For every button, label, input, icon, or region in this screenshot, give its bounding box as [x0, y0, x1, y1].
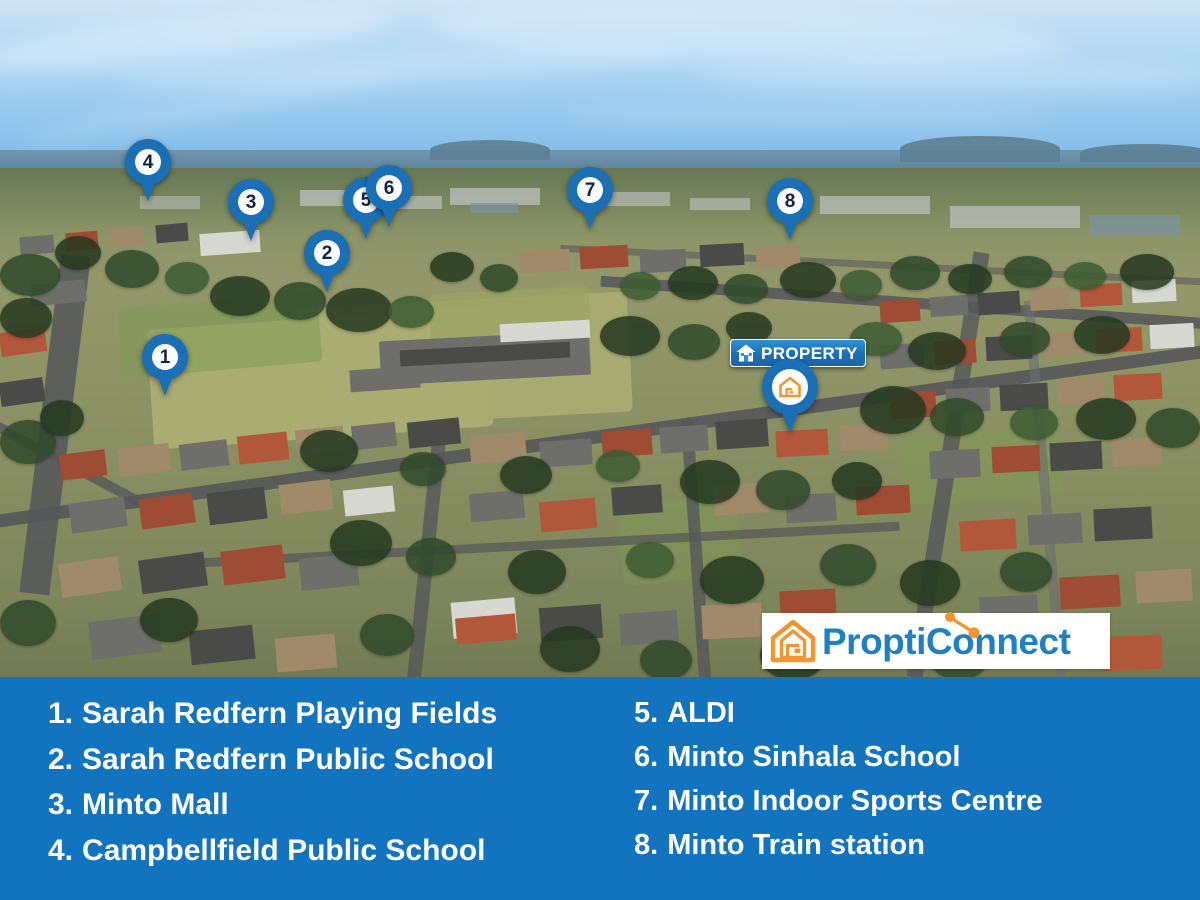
house-roof: [109, 227, 144, 248]
legend-number: 6.: [634, 735, 658, 779]
tree: [400, 452, 446, 486]
tree: [620, 272, 660, 300]
legend-number: 5.: [634, 691, 658, 735]
map-pin-6[interactable]: 6: [366, 165, 412, 227]
pin-number: 1: [160, 348, 171, 367]
house-roof: [469, 490, 525, 523]
legend-label: Sarah Redfern Public School: [82, 737, 494, 783]
tree: [105, 250, 159, 288]
pin-disc: 6: [376, 175, 402, 201]
legend-label: Campbellfield Public School: [82, 828, 485, 874]
pin-disc: 1: [152, 344, 178, 370]
tree: [0, 254, 60, 296]
tree: [900, 560, 960, 606]
house-icon: [735, 343, 757, 363]
tree: [165, 262, 209, 294]
house-roof: [343, 485, 395, 516]
tree: [360, 614, 414, 656]
legend-column-right: 5. ALDI 6. Minto Sinhala School 7. Minto…: [634, 691, 1194, 867]
tree: [596, 450, 640, 482]
pin-disc: 8: [777, 188, 803, 214]
house-roof: [991, 445, 1040, 473]
terrain-detail: [820, 196, 930, 214]
tree: [0, 298, 52, 338]
terrain-detail: [690, 198, 750, 210]
house-roof: [1049, 441, 1102, 472]
tree: [330, 520, 392, 566]
house-roof: [977, 291, 1020, 316]
legend-item-6: 6. Minto Sinhala School: [634, 735, 1194, 779]
tree: [500, 456, 552, 494]
legend-label: Minto Sinhala School: [667, 735, 960, 779]
house-roof: [278, 479, 333, 515]
tree: [820, 544, 876, 586]
map-pin-3[interactable]: 3: [228, 179, 274, 241]
tree: [508, 550, 566, 594]
tree: [388, 296, 434, 328]
house-roof: [929, 295, 968, 318]
legend-item-8: 8. Minto Train station: [634, 823, 1194, 867]
house-roof: [155, 223, 188, 244]
house-roof: [1059, 574, 1121, 609]
tree: [724, 274, 768, 304]
pin-disc: 3: [238, 189, 264, 215]
legend-item-2: 2. Sarah Redfern Public School: [48, 737, 628, 783]
pin-number: 8: [785, 192, 796, 211]
legend-number: 3.: [48, 782, 73, 828]
legend-number: 2.: [48, 737, 73, 783]
pin-number: 6: [384, 179, 395, 198]
tree: [780, 262, 836, 298]
map-pin-4[interactable]: 4: [125, 139, 171, 201]
legend-label: ALDI: [667, 691, 735, 735]
house-roof: [929, 449, 980, 480]
legend-number: 1.: [48, 691, 73, 737]
legend-label: Minto Mall: [82, 782, 229, 828]
house-roof: [407, 417, 461, 448]
house-roof: [611, 484, 663, 515]
house-roof: [519, 249, 570, 274]
brand-logo[interactable]: ProptiConnect: [762, 613, 1110, 669]
legend-label: Sarah Redfern Playing Fields: [82, 691, 497, 737]
tree: [930, 398, 984, 436]
tree: [1076, 398, 1136, 440]
tree: [840, 270, 882, 300]
tree: [908, 332, 966, 370]
map-pin-7[interactable]: 7: [567, 167, 613, 229]
legend-number: 7.: [634, 779, 658, 823]
pin-number: 4: [143, 153, 154, 172]
tree: [756, 470, 810, 510]
tree: [480, 264, 518, 292]
tree: [640, 640, 692, 680]
house-roof: [879, 299, 920, 324]
tree: [1064, 262, 1106, 290]
brand-logo-text: ProptiConnect: [822, 623, 1070, 660]
tree: [55, 236, 101, 270]
house-roof: [1135, 569, 1193, 604]
legend-label: Minto Train station: [667, 823, 925, 867]
house-roof: [1113, 373, 1162, 401]
house-roof: [1149, 323, 1194, 349]
house-roof: [579, 245, 628, 269]
legend-item-4: 4. Campbellfield Public School: [48, 828, 628, 874]
house-roof: [1027, 513, 1082, 546]
tree: [626, 542, 674, 578]
legend-column-left: 1. Sarah Redfern Playing Fields 2. Sarah…: [48, 691, 628, 873]
tree: [210, 276, 270, 316]
legend-label: Minto Indoor Sports Centre: [667, 779, 1042, 823]
tree: [1004, 256, 1052, 288]
cloud-wisp: [560, 104, 1060, 128]
house-pin-icon: [778, 376, 802, 398]
legend-bar: 1. Sarah Redfern Playing Fields 2. Sarah…: [0, 677, 1200, 900]
map-pin-1[interactable]: 1: [142, 334, 188, 396]
cloud-wisp: [700, 60, 1200, 94]
terrain-detail: [470, 203, 518, 213]
tree: [680, 460, 740, 504]
tree: [1010, 406, 1058, 440]
tree: [140, 598, 198, 642]
house-roof: [19, 235, 54, 256]
legend-number: 4.: [48, 828, 73, 874]
tree: [1146, 408, 1200, 448]
house-roof: [351, 422, 397, 450]
house-roof: [699, 243, 744, 267]
tree: [700, 556, 764, 604]
property-pin[interactable]: [762, 359, 818, 433]
legend-number: 8.: [634, 823, 658, 867]
tree: [890, 256, 940, 290]
tree: [0, 600, 56, 646]
pin-number: 7: [585, 181, 596, 200]
aerial-map-infographic: PROPERTY 1: [0, 0, 1200, 900]
distant-hill: [430, 140, 550, 160]
house-roof: [188, 625, 255, 666]
tree: [600, 316, 660, 356]
tree: [1074, 316, 1130, 354]
house-roof: [659, 424, 709, 453]
tree: [1000, 322, 1050, 356]
legend-item-5: 5. ALDI: [634, 691, 1194, 735]
tree: [540, 626, 600, 672]
house-roof: [275, 633, 338, 672]
distant-hill: [1080, 144, 1200, 162]
legend-item-3: 3. Minto Mall: [48, 782, 628, 828]
house-roof: [701, 602, 763, 639]
house-roof: [539, 498, 597, 533]
map-pin-8[interactable]: 8: [767, 178, 813, 240]
house-roof: [959, 519, 1016, 552]
tree: [860, 386, 926, 434]
tree: [430, 252, 474, 282]
legend-item-1: 1. Sarah Redfern Playing Fields: [48, 691, 628, 737]
pin-disc: [772, 369, 808, 405]
tree: [948, 264, 992, 294]
house-logo-icon: [770, 619, 816, 663]
tree: [300, 430, 358, 472]
pin-disc: 7: [577, 177, 603, 203]
tree: [1000, 552, 1052, 592]
tree: [1120, 254, 1174, 290]
pin-disc: 4: [135, 149, 161, 175]
brand-word-one: Propti: [822, 621, 926, 662]
tree: [326, 288, 392, 332]
house-roof: [59, 449, 108, 480]
tree: [406, 538, 456, 576]
distant-hill: [900, 136, 1060, 162]
house-roof: [715, 418, 769, 450]
house-roof: [237, 431, 290, 464]
map-pin-2[interactable]: 2: [304, 230, 350, 292]
brand-word-two: Connect: [926, 621, 1071, 662]
tree: [668, 324, 720, 360]
tree: [40, 400, 84, 436]
house-roof: [1093, 507, 1153, 542]
house-roof: [1029, 287, 1070, 311]
terrain-detail: [950, 206, 1080, 228]
aerial-photo: PROPERTY 1: [0, 0, 1200, 680]
terrain-detail: [1090, 215, 1180, 235]
tree: [832, 462, 882, 500]
tree: [668, 266, 718, 300]
house-roof: [455, 613, 517, 644]
pin-number: 3: [246, 193, 257, 212]
pin-disc: 2: [314, 240, 340, 266]
pin-number: 2: [322, 244, 333, 263]
legend-item-7: 7. Minto Indoor Sports Centre: [634, 779, 1194, 823]
